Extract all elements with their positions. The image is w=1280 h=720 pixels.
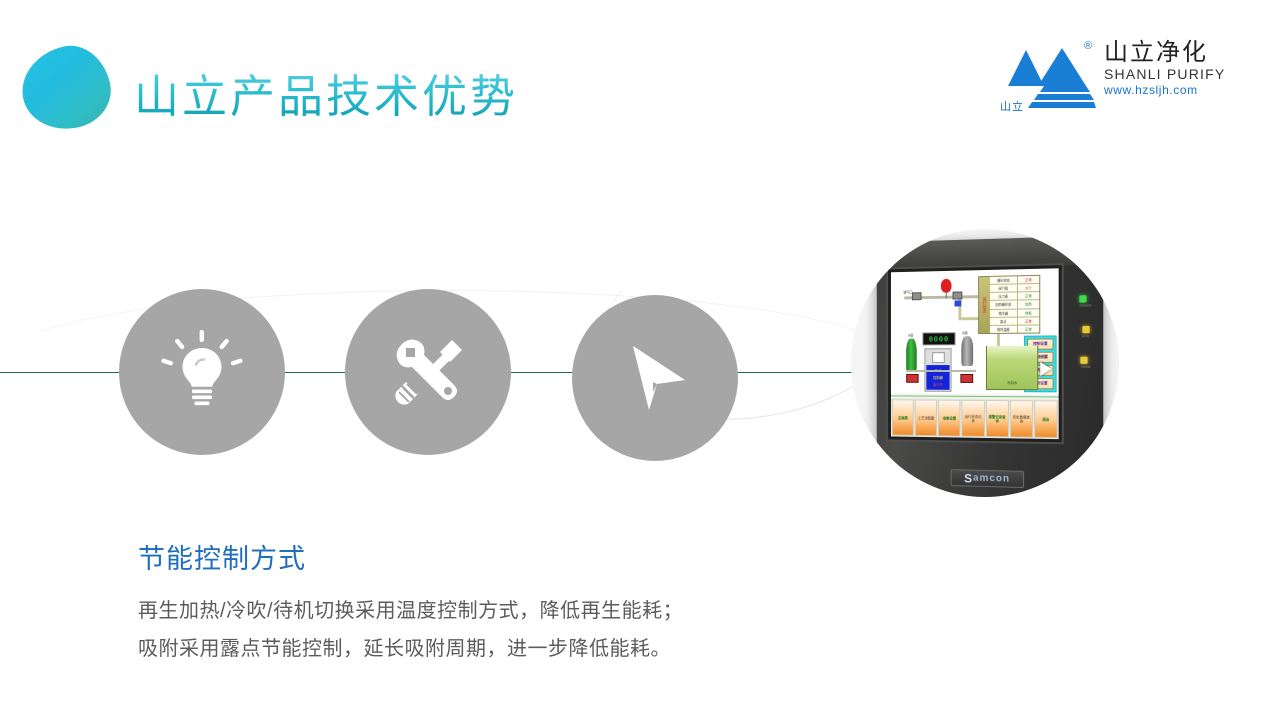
hmi-device: 进气口 运行状态 通讯状态 正常 阀门 <box>877 235 1103 497</box>
hmi-main-area: 进气口 运行状态 通讯状态 正常 阀门 <box>891 268 1059 394</box>
led-label: POWER <box>1080 303 1092 307</box>
alarm-led-icon <box>1081 357 1088 364</box>
body-line-1: 再生加热/冷吹/待机切换采用温度控制方式，降低再生能耗； <box>138 592 683 630</box>
label-inlet: 进气口 <box>903 289 912 294</box>
digital-readout: 0000 <box>922 332 955 345</box>
decorative-blob <box>14 39 117 138</box>
controller-line-2: 控制器 <box>933 374 943 379</box>
control-panel-photo: 进气口 运行状态 通讯状态 正常 阀门 <box>851 229 1119 497</box>
hmi-screen[interactable]: 进气口 运行状态 通讯状态 正常 阀门 <box>891 268 1059 439</box>
hmi-tab[interactable]: 主画面 <box>892 399 914 436</box>
status-key: 阀门组 <box>990 285 1018 293</box>
valve-a-icon <box>906 374 918 383</box>
valve-inlet-icon <box>912 292 922 300</box>
registered-mark: ® <box>1084 40 1092 52</box>
adsorber-tower-b-icon <box>961 336 973 366</box>
pressure-indicator-icon <box>941 279 952 293</box>
status-table-title: 运行状态 <box>979 277 990 333</box>
adsorber-tower-a-icon <box>906 339 917 372</box>
outlet-arrow-icon <box>1040 362 1051 376</box>
brand-initial: S <box>964 471 973 485</box>
status-value: 正常 <box>1018 276 1040 284</box>
screen-bezel: 进气口 运行状态 通讯状态 正常 阀门 <box>886 263 1064 444</box>
table-row: 塔内温度 正常 <box>990 325 1039 333</box>
logo-website: www.hzsljh.com <box>1104 83 1224 98</box>
actuator-icon <box>954 300 961 306</box>
valve-b-icon <box>960 374 973 383</box>
valve-mid-icon <box>953 291 963 299</box>
body-line-2: 吸附采用露点节能控制，延长吸附周期，进一步降低能耗。 <box>138 630 683 668</box>
status-key: 露点 <box>990 317 1018 324</box>
brand-name: amcon <box>973 473 1010 485</box>
controller-line-3: 运行中 <box>933 381 943 386</box>
status-value: 运行 <box>1018 284 1040 292</box>
hmi-tab[interactable]: 历史数据查询 <box>1010 400 1033 438</box>
status-value: 待机 <box>1018 309 1040 317</box>
power-led-icon <box>1080 295 1087 302</box>
status-key: 预冷器 <box>990 309 1018 317</box>
led-indicator: COMM <box>1081 357 1091 369</box>
company-logo: ® 山立 山立净化 SHANLI PURIFY www.hzsljh.com <box>1000 36 1220 124</box>
icon-circle-cursor[interactable] <box>572 295 738 461</box>
logo-name-cn: 山立净化 <box>1104 40 1224 66</box>
device-brand-plate: Samcon <box>951 469 1024 488</box>
digital-readout-value: 0000 <box>929 335 949 343</box>
cursor-arrow-icon <box>609 332 701 424</box>
hmi-divider <box>891 395 1059 397</box>
run-led-icon <box>1082 326 1089 333</box>
status-value: 正常 <box>1018 325 1040 332</box>
led-label: RUN <box>1082 334 1089 338</box>
tank-label: 冷却水 <box>1007 380 1017 385</box>
controller-body: PLC 控制器 运行中 <box>926 365 949 390</box>
hmi-tab[interactable]: 工艺流程图 <box>915 399 937 436</box>
hmi-tab[interactable]: 退出 <box>1034 400 1058 438</box>
logo-mark-label: 山立 <box>1000 98 1024 114</box>
status-key: 压力表 <box>990 293 1018 301</box>
hmi-tab[interactable]: 报警记录查询 <box>986 400 1009 437</box>
icon-circle-lightbulb[interactable] <box>119 289 285 455</box>
logo-name-en: SHANLI PURIFY <box>1104 66 1224 83</box>
slide-root: 山立产品技术优势 ® 山立 山立净化 SHANLI PURIFY www.hzs… <box>0 0 1280 720</box>
tools-icon <box>382 326 474 418</box>
status-table-rows: 通讯状态 正常 阀门组 运行 压力表 正常 <box>990 276 1039 333</box>
status-value: 加热 <box>1018 301 1040 309</box>
led-indicator: RUN <box>1082 326 1089 338</box>
status-value: 正常 <box>1018 292 1040 300</box>
status-key: 加热器状态 <box>990 301 1018 309</box>
led-indicator: POWER <box>1080 295 1092 307</box>
lightbulb-icon <box>156 326 248 418</box>
status-key: 通讯状态 <box>990 276 1018 284</box>
status-table: 运行状态 通讯状态 正常 阀门组 运行 <box>978 275 1040 334</box>
hmi-tab[interactable]: 参数设置 <box>938 400 961 437</box>
cooling-tank-icon: 冷却水 <box>986 346 1038 391</box>
pipe-bottom <box>906 370 976 372</box>
controller-display <box>932 352 945 363</box>
hmi-bottom-tabs: 主画面 工艺流程图 参数设置 运行状态记录 报警记录查询 历史数据查询 退出 <box>891 398 1059 439</box>
page-title: 山立产品技术优势 <box>134 60 518 125</box>
hmi-tab[interactable]: 运行状态记录 <box>962 400 985 437</box>
status-value: 正常 <box>1018 317 1040 324</box>
label-outlet: 出气口 <box>1038 354 1048 359</box>
icon-circle-tools[interactable] <box>345 289 511 455</box>
led-label: COMM <box>1081 365 1091 369</box>
section-heading: 节能控制方式 <box>138 537 306 576</box>
led-indicator-strip: POWER RUN COMM <box>1074 295 1097 387</box>
section-body: 再生加热/冷吹/待机切换采用温度控制方式，降低再生能耗； 吸附采用露点节能控制，… <box>138 592 683 668</box>
label-tower-a: A塔 <box>908 333 913 338</box>
status-key: 塔内温度 <box>990 326 1018 333</box>
label-tower-b: B塔 <box>962 330 967 335</box>
